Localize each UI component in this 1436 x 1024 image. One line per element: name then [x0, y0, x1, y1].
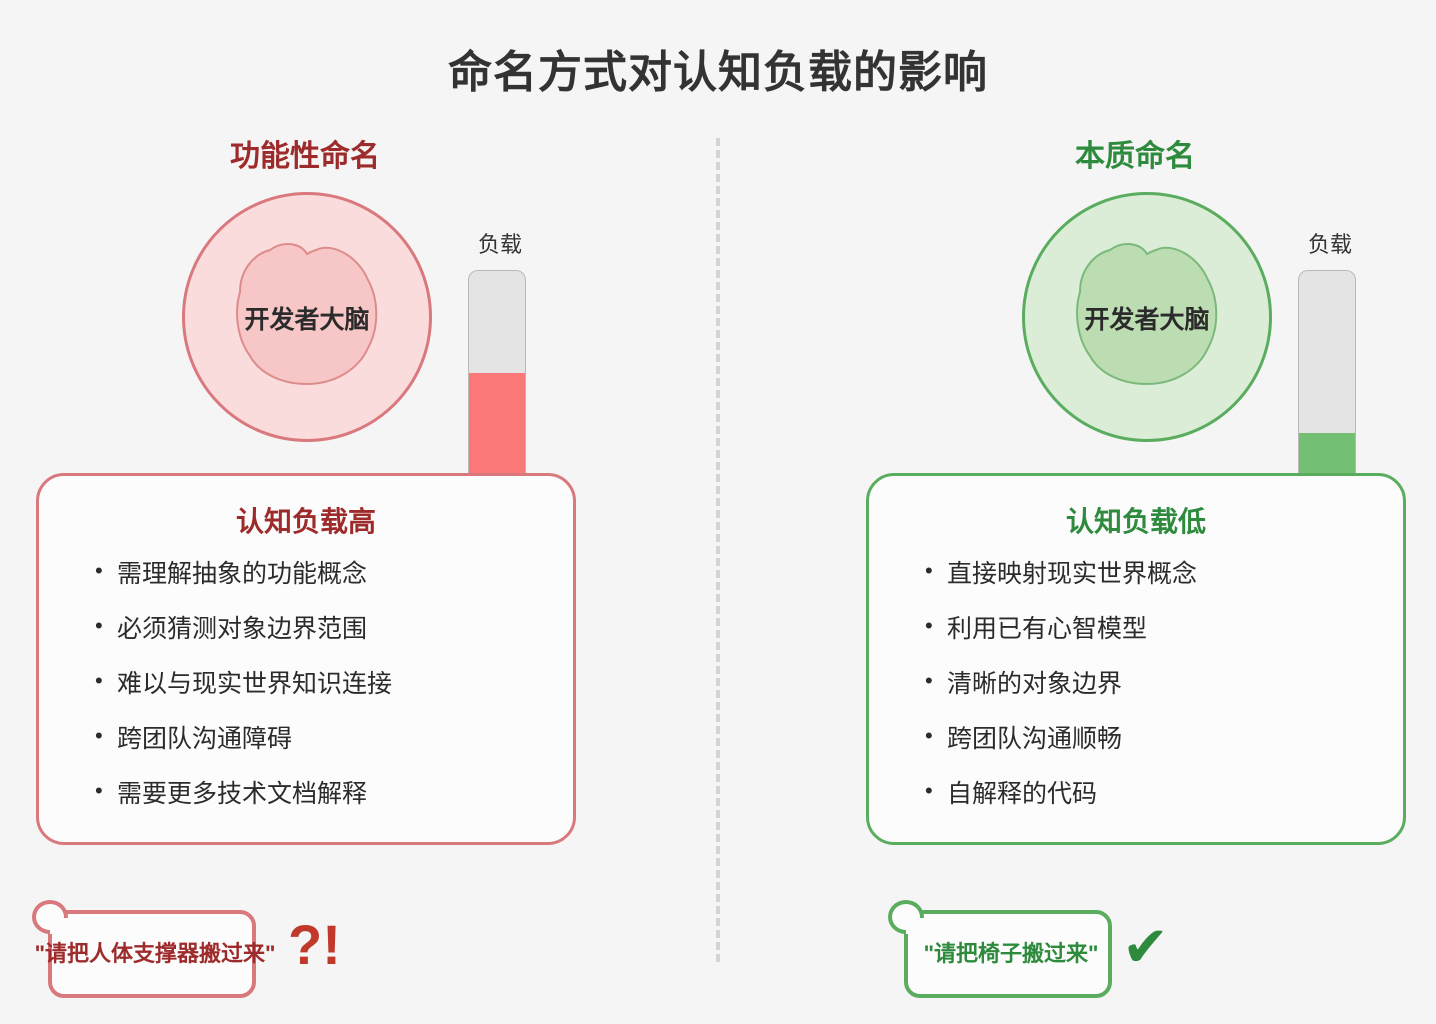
gauge-caption-functional: 负载 — [440, 227, 560, 259]
card-bullet-list: 需理解抽象的功能概念 必须猜测对象边界范围 难以与现实世界知识连接 跨团队沟通障… — [39, 562, 573, 807]
list-item: 自解释的代码 — [925, 782, 1403, 807]
speech-bubble-text: "请把人体支撑器搬过来" — [10, 936, 300, 968]
list-item: 必须猜测对象边界范围 — [95, 617, 573, 642]
list-item: 利用已有心智模型 — [925, 617, 1403, 642]
card-title: 认知负载低 — [869, 500, 1403, 540]
column-heading-essential: 本质命名 — [915, 131, 1355, 175]
list-item: 直接映射现实世界概念 — [925, 562, 1403, 587]
cognitive-load-card-functional: 认知负载高 需理解抽象的功能概念 必须猜测对象边界范围 难以与现实世界知识连接 … — [36, 473, 576, 845]
verdict-checkmark-icon: ✔ — [1122, 914, 1169, 980]
list-item: 跨团队沟通障碍 — [95, 727, 573, 752]
list-item: 需理解抽象的功能概念 — [95, 562, 573, 587]
infographic-canvas: 命名方式对认知负载的影响 功能性命名 开发者大脑 负载 高 认知负载高 需理解抽… — [0, 0, 1436, 1024]
list-item: 难以与现实世界知识连接 — [95, 672, 573, 697]
brain-label: 开发者大脑 — [182, 300, 432, 336]
tail-joint-mask — [50, 918, 74, 934]
brain-label: 开发者大脑 — [1022, 300, 1272, 336]
tail-joint-mask — [906, 918, 930, 934]
load-gauge-functional — [468, 270, 526, 474]
brain-diagram-functional: 开发者大脑 — [182, 192, 432, 442]
card-title: 认知负载高 — [39, 500, 573, 540]
verdict-question-exclamation-icon: ?! — [288, 912, 341, 977]
list-item: 清晰的对象边界 — [925, 672, 1403, 697]
gauge-caption-essential: 负载 — [1270, 227, 1390, 259]
speech-bubble-text: "请把椅子搬过来" — [866, 936, 1156, 968]
card-bullet-list: 直接映射现实世界概念 利用已有心智模型 清晰的对象边界 跨团队沟通顺畅 自解释的… — [869, 562, 1403, 807]
column-heading-functional: 功能性命名 — [85, 131, 525, 175]
gauge-fill — [1299, 433, 1355, 474]
list-item: 跨团队沟通顺畅 — [925, 727, 1403, 752]
brain-diagram-essential: 开发者大脑 — [1022, 192, 1272, 442]
page-title: 命名方式对认知负载的影响 — [0, 36, 1436, 100]
load-gauge-essential — [1298, 270, 1356, 474]
cognitive-load-card-essential: 认知负载低 直接映射现实世界概念 利用已有心智模型 清晰的对象边界 跨团队沟通顺… — [866, 473, 1406, 845]
list-item: 需要更多技术文档解释 — [95, 782, 573, 807]
column-divider — [716, 138, 720, 962]
gauge-fill — [469, 373, 525, 475]
